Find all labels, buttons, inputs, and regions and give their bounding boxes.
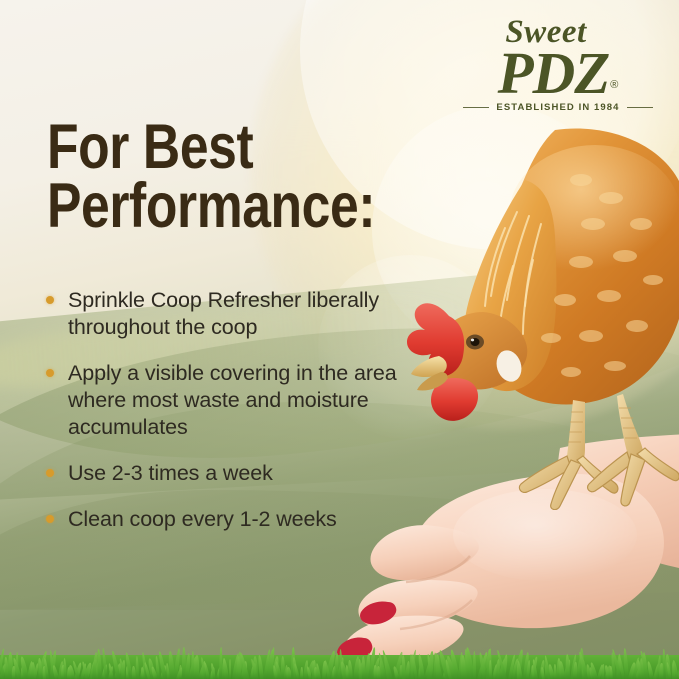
rule-left-icon [463,107,489,108]
sweet-pdz-logo: Sweet PDZ ® ESTABLISHED IN 1984 [463,16,653,113]
list-item-label: Clean coop every 1-2 weeks [68,507,337,531]
logo-wordmark-pdz: PDZ [498,46,610,100]
bullet-dot-icon [46,515,54,523]
list-item-label: Apply a visible covering in the area whe… [68,361,397,439]
grass-strip [0,645,679,679]
registered-trademark-icon: ® [610,79,618,91]
list-item-label: Sprinkle Coop Refresher liberally throug… [68,288,379,339]
grass-blade [229,659,232,679]
bullet-dot-icon [46,369,54,377]
chicken-image [405,120,679,510]
page-title: For Best Performance: [47,118,375,235]
list-item: Sprinkle Coop Refresher liberally throug… [46,287,446,341]
poster-canvas: Sweet PDZ ® ESTABLISHED IN 1984 For Best… [0,0,679,679]
grass-blade [489,660,492,679]
list-item-label: Use 2-3 times a week [68,461,273,485]
rule-right-icon [627,107,653,108]
bullet-dot-icon [46,469,54,477]
bullet-dot-icon [46,296,54,304]
logo-wordmark-pdz-row: PDZ ® [463,46,653,100]
